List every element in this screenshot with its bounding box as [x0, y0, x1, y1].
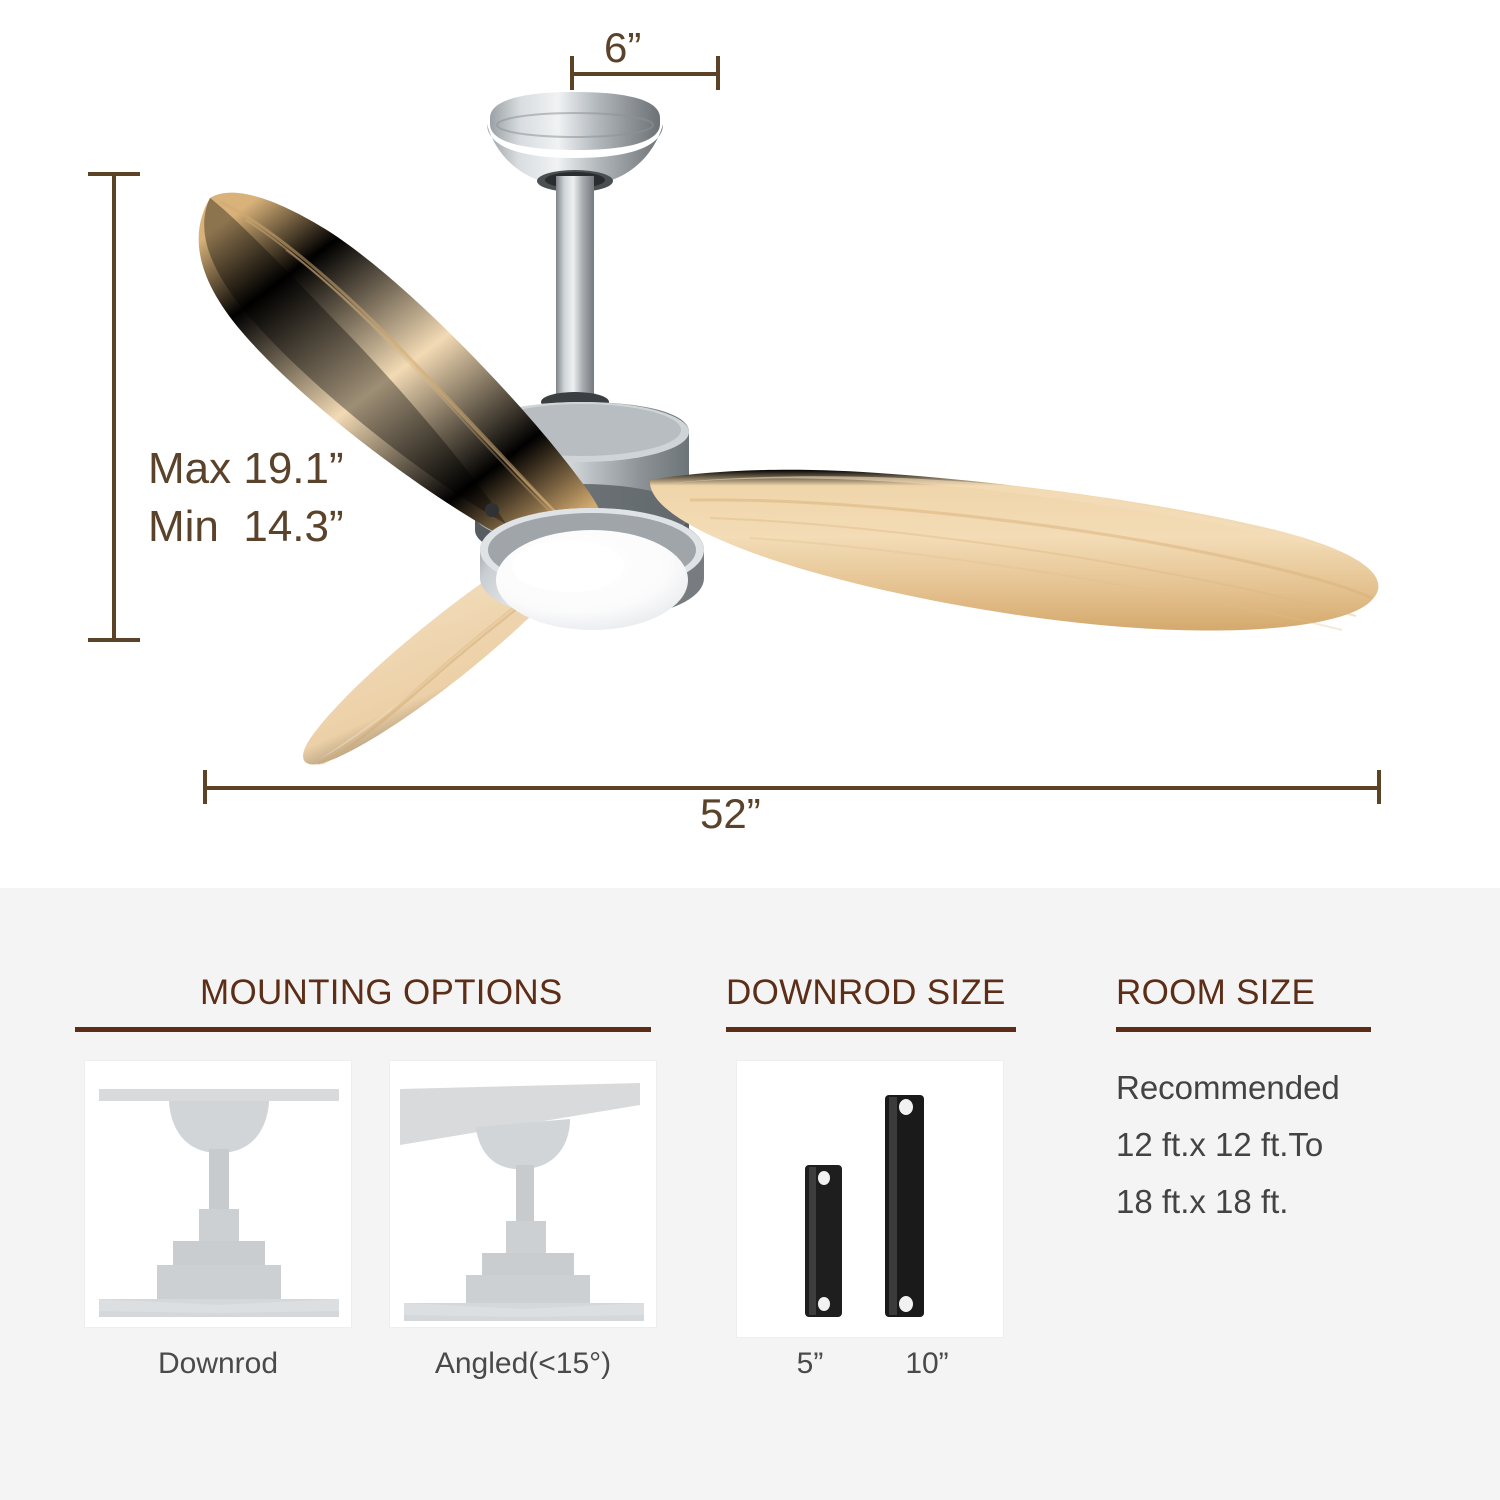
downrod-short-icon [805, 1165, 842, 1317]
mounting-option-downrod-thumb[interactable] [84, 1060, 352, 1328]
dimension-line-canopy-width [570, 72, 720, 76]
fan-blade-upper-left [199, 193, 607, 560]
panel-rule-downrod [726, 1027, 1016, 1032]
fan-downrod [541, 176, 609, 412]
panel-heading-room: ROOM SIZE [1116, 973, 1315, 1013]
fan-dimension-diagram: 6” Max 19.1” Min 14.3” 52” [0, 0, 1500, 888]
dimension-cap-top-height [88, 172, 140, 176]
product-dimension-infographic: 6” Max 19.1” Min 14.3” 52” [0, 0, 1500, 1500]
dimension-cap-bottom-height [88, 638, 140, 642]
panel-heading-mounting: MOUNTING OPTIONS [200, 973, 563, 1013]
mounting-option-downrod-caption: Downrod [84, 1347, 352, 1381]
angled-mount-icon [390, 1061, 657, 1328]
fan-blade-right [650, 470, 1379, 631]
downrod-size-5-caption: 5” [760, 1347, 860, 1381]
room-size-text: Recommended 12 ft.x 12 ft.To 18 ft.x 18 … [1116, 1060, 1456, 1230]
dimension-label-canopy-width: 6” [604, 24, 641, 72]
panel-heading-downrod: DOWNROD SIZE [726, 973, 1006, 1013]
downrod-mount-icon [85, 1061, 352, 1328]
dimension-line-height [112, 172, 116, 642]
room-size-line-3: 18 ft.x 18 ft. [1116, 1174, 1456, 1231]
downrod-rods-icon [737, 1061, 1004, 1338]
mounting-option-angled-caption: Angled(<15°) [389, 1347, 657, 1381]
downrod-size-thumb[interactable] [736, 1060, 1004, 1338]
panel-rule-room [1116, 1027, 1371, 1032]
room-size-line-2: 12 ft.x 12 ft.To [1116, 1117, 1456, 1174]
downrod-size-10-caption: 10” [872, 1347, 982, 1381]
hub-screw-icon [485, 503, 499, 517]
downrod-long-icon [885, 1095, 924, 1317]
room-size-line-1: Recommended [1116, 1060, 1456, 1117]
mounting-option-angled-thumb[interactable] [389, 1060, 657, 1328]
panel-rule-mounting [75, 1027, 651, 1032]
ceiling-fan-illustration [150, 80, 1430, 800]
spec-panels: MOUNTING OPTIONS Downrod [0, 888, 1500, 1500]
